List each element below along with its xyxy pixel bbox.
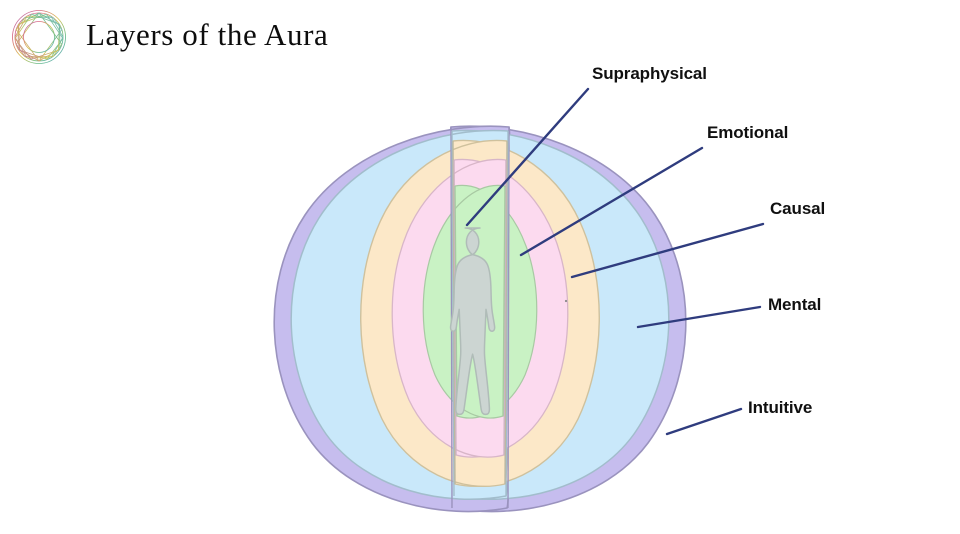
layer-label-intuitive: Intuitive bbox=[748, 398, 812, 418]
leader-line-intuitive bbox=[667, 409, 741, 434]
slide-canvas: Layers of the Aura bbox=[0, 0, 960, 534]
layer-label-causal: Causal bbox=[770, 199, 825, 219]
stray-dot bbox=[565, 300, 567, 302]
aura-layers-torus-diagram bbox=[0, 0, 960, 534]
layer-label-mental: Mental bbox=[768, 295, 821, 315]
layer-label-supraphysical: Supraphysical bbox=[592, 64, 707, 84]
layer-label-emotional: Emotional bbox=[707, 123, 788, 143]
